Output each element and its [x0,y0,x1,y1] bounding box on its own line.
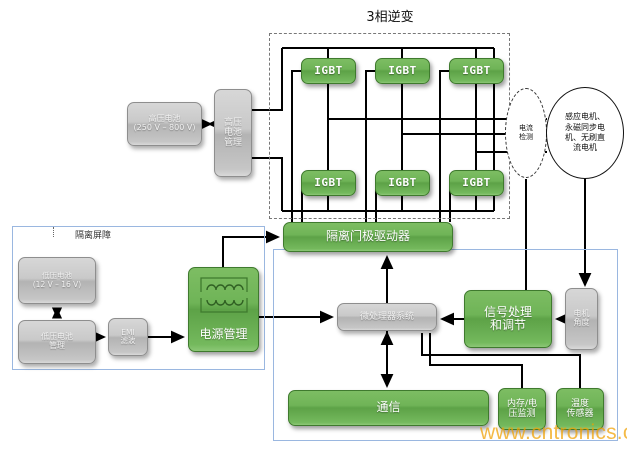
emi-filter-block[interactable]: EMI 滤波 [108,318,148,356]
memory-voltage-monitor-line2: 压监测 [501,409,543,419]
watermark: www.cntronics.com [480,421,627,445]
igbt-switch[interactable]: IGBT [375,58,430,84]
lv-battery-block[interactable]: 低压电池 (12 V – 16 V) [18,257,96,304]
hv-battery-management-block[interactable]: 高压 电池 管理 [214,89,252,177]
transformer-icon [193,272,255,318]
igbt-label: IGBT [376,177,429,189]
igbt-switch[interactable]: IGBT [301,170,356,196]
memory-voltage-monitor-line1: 内存/电 [501,399,543,409]
signal-processing-label-line1: 信号处理 [467,306,549,319]
motor-types-ellipse: 感应电机、 永磁同步电 机、无刷直 流电机 [546,87,624,179]
gate-driver-label: 隔离门极驱动器 [284,230,452,243]
lv-battery-label-line2: (12 V – 16 V) [21,281,93,289]
motor-types-line3: 机、无刷直 [565,133,605,142]
hv-bms-label-line3: 管理 [217,138,249,148]
microprocessor-label: 微处理器系统 [338,312,436,322]
lv-bms-label-line2: 管理 [21,342,93,351]
communication-block[interactable]: 通信 [288,390,489,426]
igbt-label: IGBT [376,65,429,77]
motor-types-line1: 感应电机、 [565,112,605,121]
igbt-label: IGBT [450,65,503,77]
isolation-barrier-label: 隔离屏障 [48,228,138,241]
temperature-sensor-line2: 传感器 [559,409,601,419]
signal-processing-block[interactable]: 信号处理 和调节 [464,290,552,348]
isolated-gate-driver-block[interactable]: 隔离门极驱动器 [283,222,453,252]
signal-processing-label-line2: 和调节 [467,319,549,332]
communication-label: 通信 [289,401,488,414]
current-sense-label-line2: 检测 [519,133,533,141]
power-management-label: 电源管理 [189,328,258,341]
lv-battery-management-block[interactable]: 低压电池 管理 [18,320,96,364]
motor-types-line4: 流电机 [573,143,597,152]
microprocessor-system-block[interactable]: 微处理器系统 [337,303,437,331]
hv-battery-block[interactable]: 高压电池 (250 V – 800 V) [127,102,202,146]
temperature-sensor-line1: 温度 [559,399,601,409]
hv-bms-label-line1: 高压 [217,118,249,128]
igbt-switch[interactable]: IGBT [449,170,504,196]
igbt-switch[interactable]: IGBT [449,58,504,84]
igbt-label: IGBT [302,65,355,77]
emi-filter-label-line2: 滤波 [111,337,145,345]
hv-bms-label-line2: 电池 [217,128,249,138]
igbt-label: IGBT [450,177,503,189]
igbt-switch[interactable]: IGBT [375,170,430,196]
current-sense-label-line1: 电流 [519,124,533,132]
motor-feedback-label-line2: 角度 [568,319,595,328]
igbt-switch[interactable]: IGBT [301,58,356,84]
current-sense-ellipse: 电流 检测 [505,88,547,178]
motor-types-line2: 永磁同步电 [565,123,605,132]
diagram-canvas: 3相逆变 隔离屏障 高压电池 (250 V – 800 V) 高压 电池 管理 … [0,0,627,451]
motor-feedback-block[interactable]: 电机 角度 [565,288,598,350]
igbt-label: IGBT [302,177,355,189]
hv-battery-label-line2: (250 V – 800 V) [130,124,199,133]
page-title: 3相逆变 [310,6,470,25]
power-management-block[interactable]: 电源管理 [188,267,259,352]
